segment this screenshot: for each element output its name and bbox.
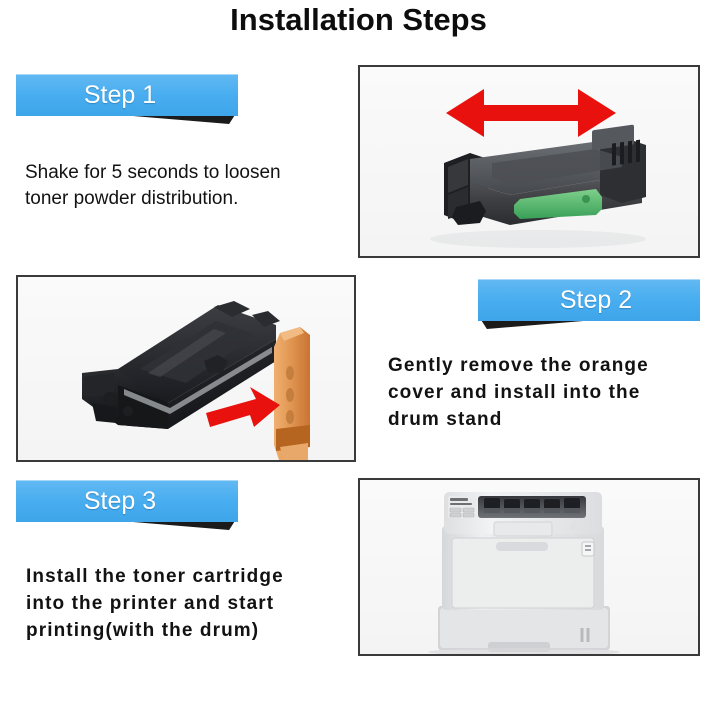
step-1-image-panel (358, 65, 700, 258)
step-1-banner-label: Step 1 (16, 74, 238, 116)
step-3-description: Install the toner cartridge into the pri… (26, 563, 336, 644)
step-2-banner-label: Step 2 (478, 279, 700, 321)
toner-cartridge-illustration (360, 67, 700, 258)
step-3-banner-label: Step 3 (16, 480, 238, 522)
laser-printer-illustration (360, 480, 700, 656)
step-2-image-panel (16, 275, 356, 462)
step-1-banner: Step 1 (16, 74, 238, 116)
toner-cartridge-orange-cover-illustration (18, 277, 356, 462)
step-3-banner: Step 3 (16, 480, 238, 522)
step-2-banner: Step 2 (478, 279, 700, 321)
step-2-description: Gently remove the orange cover and insta… (388, 352, 698, 433)
step-1-description: Shake for 5 seconds to loosen toner powd… (25, 160, 325, 212)
page-title: Installation Steps (0, 2, 717, 38)
step-3-image-panel (358, 478, 700, 656)
